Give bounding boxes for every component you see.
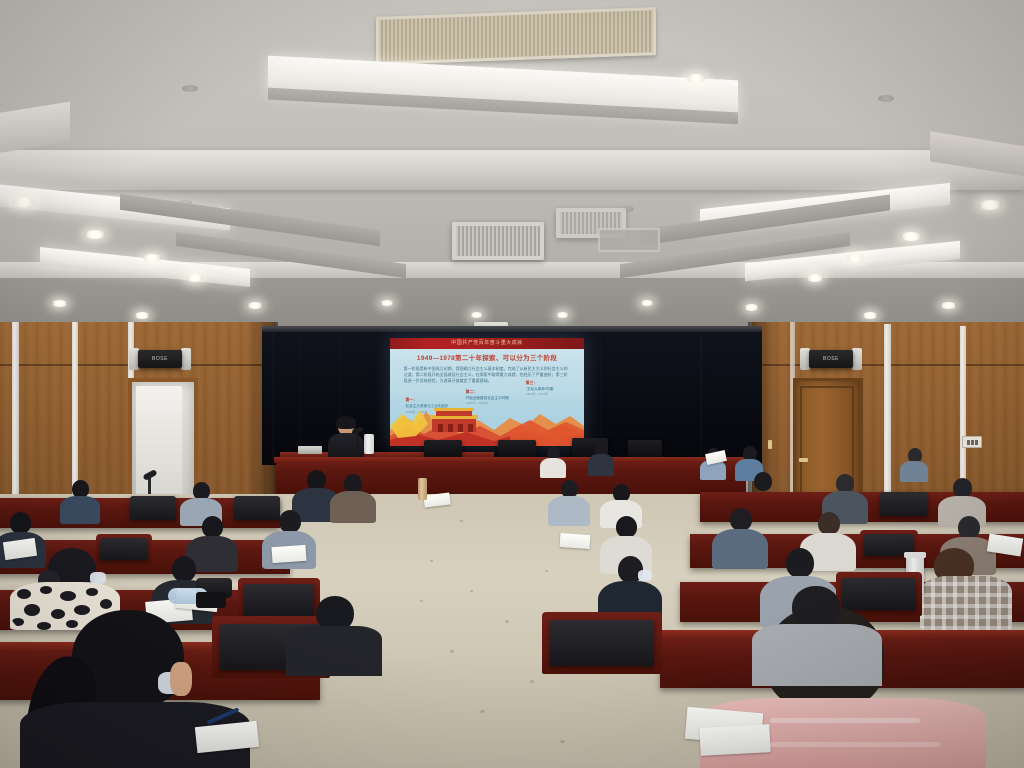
attendee-torso (752, 624, 882, 686)
slide-title: 1949—1978第二十年探索、可以分为三个阶段 (402, 352, 573, 362)
presenter-cup (364, 434, 374, 454)
projection-screen: 中国共产党百年奋斗重大成就 1949—1978第二十年探索、可以分为三个阶段 第… (390, 338, 584, 446)
attendee-head (958, 516, 980, 539)
chair-seat[interactable] (550, 620, 654, 666)
chair[interactable] (130, 496, 176, 520)
attendee-head (786, 548, 814, 578)
attendee-head (818, 512, 840, 535)
curtain-fold (272, 330, 277, 465)
downlight-icon (978, 200, 1002, 210)
attendee-head (172, 556, 196, 582)
slide-note-3: 第三： “文化大革命”时期 1966年—1976年 (526, 381, 580, 397)
podium-microphone (356, 432, 359, 456)
speaker-body: BOSE (809, 350, 853, 368)
pink-top-fold (770, 718, 920, 723)
slide-header-text: 中国共产党百年奋斗重大成就 (390, 338, 584, 349)
downlight-icon (744, 304, 759, 311)
attendee (286, 596, 382, 670)
smoke-detector-icon (878, 95, 894, 102)
attendee-head (10, 512, 31, 534)
floor-speck (480, 710, 485, 713)
water-bottle (418, 478, 427, 500)
attendee-torso (588, 454, 614, 476)
floor-speck (560, 740, 565, 743)
curtain-fold (700, 330, 705, 462)
floor-speck (460, 520, 463, 522)
attendee (548, 480, 590, 524)
attendee-head (953, 478, 972, 498)
handout-paper (699, 724, 770, 756)
smoke-detector-icon (182, 85, 198, 92)
podium-laptop (298, 446, 322, 454)
attendee (60, 480, 100, 522)
downlight-icon (380, 300, 394, 306)
smartphone-icon (196, 592, 226, 608)
ceiling-soffit-band (0, 150, 1024, 190)
downlight-icon (900, 232, 922, 241)
door-keyhole-icon (768, 440, 772, 449)
attendee-head (616, 516, 637, 538)
attendee (752, 586, 882, 678)
downlight-icon (84, 230, 106, 239)
speaker-left: BOSE (129, 348, 191, 370)
attendee-torso (900, 461, 928, 482)
handout-paper (560, 533, 591, 549)
pink-top-fold (750, 742, 940, 747)
downlight-icon (134, 312, 150, 319)
presenter (326, 418, 366, 460)
attendee (330, 474, 376, 522)
attendee-torso (330, 491, 376, 523)
speaker-brand-label: BOSE (809, 356, 853, 362)
thermos-lid-icon (904, 552, 926, 558)
tiananmen-gate-icon (430, 408, 478, 432)
speaker-right: BOSE (800, 348, 862, 370)
downlight-icon (556, 312, 569, 318)
air-vent-icon (376, 7, 656, 65)
downlight-icon (51, 300, 68, 307)
tiananmen-illustration-icon (390, 396, 584, 446)
attendee (540, 446, 566, 476)
floor-speck (505, 620, 509, 623)
slide-artwork (390, 396, 584, 446)
attendee (900, 448, 928, 480)
downlight-icon (845, 254, 865, 262)
downlight-icon (640, 300, 654, 306)
attendee-skin (170, 662, 192, 696)
slide-content: 中国共产党百年奋斗重大成就 1949—1978第二十年探索、可以分为三个阶段 第… (390, 338, 584, 446)
downlight-icon (862, 312, 878, 319)
face-mask-icon (90, 572, 106, 584)
ac-cassette-icon (452, 222, 544, 260)
attendee-torso (548, 496, 590, 526)
presenter-hair (336, 416, 356, 429)
speaker-bracket-right (181, 348, 191, 370)
ceiling (0, 0, 1024, 332)
downlight-icon (940, 302, 957, 309)
attendee-torso (540, 458, 566, 478)
downlight-icon (142, 254, 162, 262)
slide-header-bar: 中国共产党百年奋斗重大成就 (390, 338, 584, 349)
speaker-body: BOSE (138, 350, 182, 368)
attendee (588, 442, 614, 474)
attendee-head (307, 470, 326, 490)
attendee-head (279, 510, 301, 533)
floor-speck (450, 650, 454, 653)
curtain-fold (300, 330, 304, 465)
downlight-icon (247, 302, 263, 309)
speaker-bracket-right (852, 348, 862, 370)
door-handle-icon[interactable] (799, 458, 808, 462)
face-mask-icon (638, 570, 652, 581)
attendee-head (730, 508, 752, 531)
floor-speck (530, 680, 534, 683)
attendee-head (202, 516, 223, 538)
ceiling-bulkhead-left (0, 102, 70, 155)
attendee-torso (286, 626, 382, 676)
attendee-torso (60, 496, 100, 524)
chair[interactable] (880, 492, 928, 516)
curtain-rail (262, 326, 762, 332)
front-desk-top (274, 457, 748, 463)
downlight-icon (806, 274, 824, 282)
downlight-icon (12, 197, 36, 207)
handout-paper (271, 545, 306, 563)
lecture-hall-photo: BOSE BOSE 中国共产党百年奋斗重大成就 1949—1978第二十年探索、… (0, 0, 1024, 768)
ceiling-diffuser-icon (598, 228, 660, 252)
floor-speck (545, 570, 548, 572)
downlight-icon (186, 274, 204, 282)
downlight-icon (686, 74, 706, 83)
floor-speck (470, 590, 473, 592)
speaker-brand-label: BOSE (138, 356, 182, 362)
floor-speck (420, 600, 423, 602)
floor-speck (430, 560, 433, 562)
slide-note-3-text: “文化大革命”时期 (526, 387, 554, 391)
wall-outlet-plate[interactable] (962, 436, 982, 448)
